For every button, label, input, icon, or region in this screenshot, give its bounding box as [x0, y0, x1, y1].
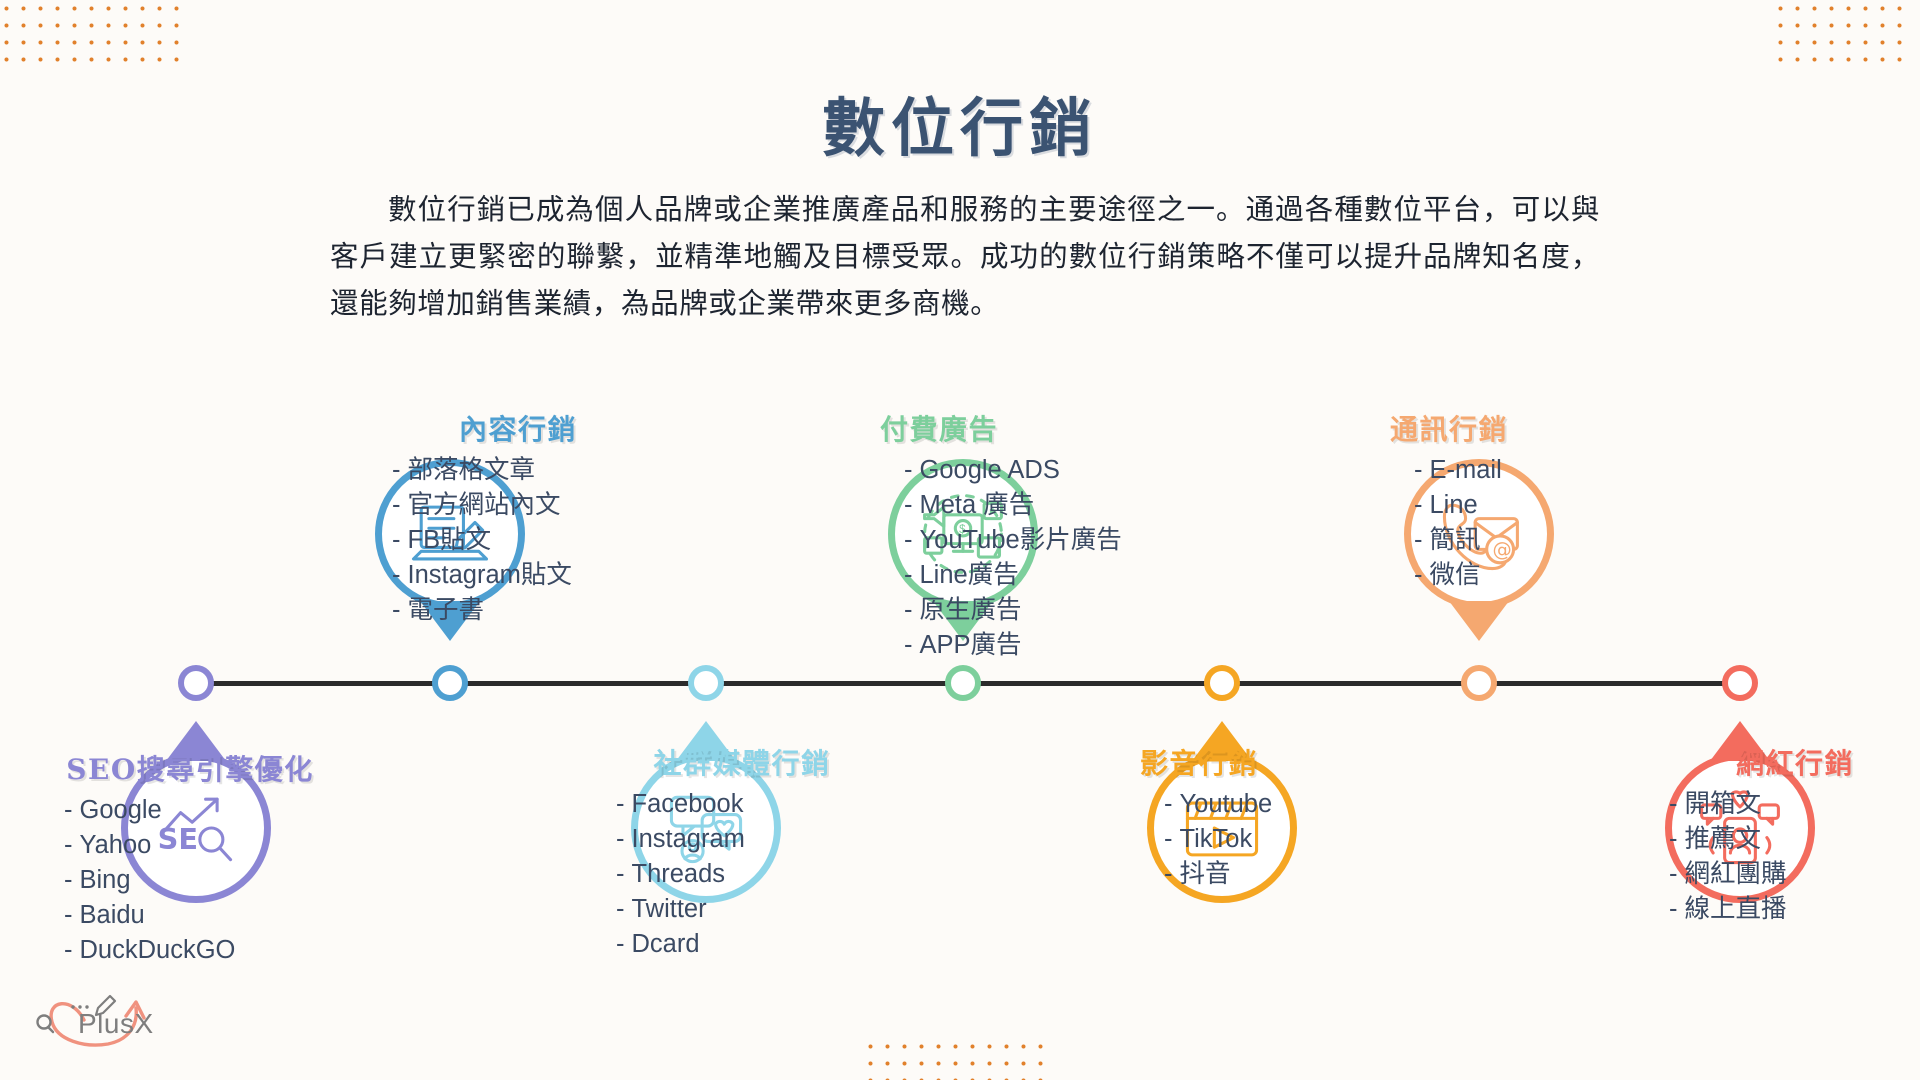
list-bullet-dash: - [64, 796, 73, 824]
section-list-seo: -Google-Yahoo-Bing-Baidu-DuckDuckGO [40, 793, 340, 968]
section-list-social: -Facebook-Instagram-Threads-Twitter-Dcar… [592, 787, 892, 962]
list-item: -原生廣告 [880, 593, 1180, 628]
section-block-social: 社群媒體行銷-Facebook-Instagram-Threads-Twitte… [592, 742, 892, 962]
dot-pattern-top-right [1772, 0, 1912, 72]
plusx-logo-text: PlusX [78, 1008, 154, 1040]
list-bullet-dash: - [392, 456, 401, 484]
list-item: -微信 [1390, 558, 1690, 593]
list-bullet-dash: - [904, 491, 913, 519]
list-item: -YouTube影片廣告 [880, 523, 1180, 558]
list-item-label: E-mail [1430, 456, 1502, 484]
timeline-node-seo[interactable] [178, 665, 214, 701]
list-bullet-dash: - [392, 561, 401, 589]
list-bullet-dash: - [904, 596, 913, 624]
section-heading-messaging: 通訊行銷 [1390, 408, 1690, 448]
list-bullet-dash: - [392, 596, 401, 624]
list-item: -DuckDuckGO [40, 933, 340, 968]
list-item: -Line [1390, 488, 1690, 523]
list-item-label: DuckDuckGO [80, 936, 236, 964]
timeline-node-paidads[interactable] [945, 665, 981, 701]
list-item: -APP廣告 [880, 628, 1180, 663]
list-item-label: FB貼文 [408, 526, 492, 554]
list-item: -線上直播 [1645, 892, 1920, 927]
list-bullet-dash: - [1669, 790, 1678, 818]
section-heading-video: 影音行銷 [1140, 742, 1440, 782]
list-item-label: 抖音 [1180, 860, 1231, 888]
infographic-canvas: 數位行銷 數位行銷已成為個人品牌或企業推廣產品和服務的主要途徑之一。通過各種數位… [0, 0, 1920, 1080]
section-block-paidads: 付費廣告-Google ADS-Meta 廣告-YouTube影片廣告-Line… [880, 408, 1180, 663]
list-item-label: TikTok [1180, 825, 1253, 853]
list-bullet-dash: - [616, 930, 625, 958]
list-item: -TikTok [1140, 822, 1440, 857]
list-item: -Youtube [1140, 787, 1440, 822]
plusx-logo: PlusX [22, 978, 172, 1058]
list-item: -Instagram [592, 822, 892, 857]
list-bullet-dash: - [64, 936, 73, 964]
list-item: -Dcard [592, 927, 892, 962]
list-item: -E-mail [1390, 453, 1690, 488]
list-bullet-dash: - [1414, 491, 1423, 519]
list-item: -開箱文 [1645, 787, 1920, 822]
list-item: -官方網站內文 [368, 488, 668, 523]
timeline-node-messaging[interactable] [1461, 665, 1497, 701]
list-item: -Google ADS [880, 453, 1180, 488]
list-item: -推薦文 [1645, 822, 1920, 857]
list-item: -網紅團購 [1645, 857, 1920, 892]
list-bullet-dash: - [616, 825, 625, 853]
section-list-paidads: -Google ADS-Meta 廣告-YouTube影片廣告-Line廣告-原… [880, 453, 1180, 663]
list-item-label: Google [80, 796, 162, 824]
list-item-label: Youtube [1180, 790, 1273, 818]
list-item-label: Dcard [632, 930, 700, 958]
dot-pattern-top-left [0, 0, 188, 72]
list-item: -Baidu [40, 898, 340, 933]
list-item-label: Line廣告 [920, 561, 1019, 589]
list-item-label: Yahoo [80, 831, 152, 859]
list-bullet-dash: - [1164, 825, 1173, 853]
list-item-label: YouTube影片廣告 [920, 526, 1122, 554]
list-item-label: Bing [80, 866, 131, 894]
list-item-label: 部落格文章 [408, 456, 536, 484]
list-item: -Facebook [592, 787, 892, 822]
list-item-label: 原生廣告 [920, 596, 1022, 624]
list-item-label: Instagram [632, 825, 745, 853]
section-heading-content: 內容行銷 [368, 408, 668, 448]
section-block-video: 影音行銷-Youtube-TikTok-抖音 [1140, 742, 1440, 892]
list-bullet-dash: - [1669, 860, 1678, 888]
list-item-label: 電子書 [408, 596, 485, 624]
list-item: -Twitter [592, 892, 892, 927]
section-list-video: -Youtube-TikTok-抖音 [1140, 787, 1440, 892]
list-item: -部落格文章 [368, 453, 668, 488]
timeline-node-influencer[interactable] [1722, 665, 1758, 701]
list-item-label: Instagram貼文 [408, 561, 572, 589]
list-item: -FB貼文 [368, 523, 668, 558]
section-heading-paidads: 付費廣告 [880, 408, 1180, 448]
list-item-label: 微信 [1430, 561, 1481, 589]
section-heading-social: 社群媒體行銷 [592, 742, 892, 782]
list-item-label: APP廣告 [920, 631, 1022, 659]
list-item-label: Baidu [80, 901, 145, 929]
section-block-content: 內容行銷-部落格文章-官方網站內文-FB貼文-Instagram貼文-電子書 [368, 408, 668, 628]
list-item: -Bing [40, 863, 340, 898]
list-bullet-dash: - [64, 831, 73, 859]
list-bullet-dash: - [616, 790, 625, 818]
list-item-label: Facebook [632, 790, 744, 818]
list-bullet-dash: - [64, 901, 73, 929]
list-bullet-dash: - [1414, 561, 1423, 589]
list-bullet-dash: - [1414, 456, 1423, 484]
list-item-label: Meta 廣告 [920, 491, 1035, 519]
list-item-label: 推薦文 [1685, 825, 1762, 853]
list-item: -Threads [592, 857, 892, 892]
section-list-influencer: -開箱文-推薦文-網紅團購-線上直播 [1645, 787, 1920, 927]
list-item-label: 簡訊 [1430, 526, 1481, 554]
list-bullet-dash: - [616, 895, 625, 923]
section-block-seo: SEO搜尋引擎優化-Google-Yahoo-Bing-Baidu-DuckDu… [40, 748, 340, 968]
list-bullet-dash: - [904, 631, 913, 659]
section-block-messaging: 通訊行銷-E-mail-Line-簡訊-微信 [1390, 408, 1690, 593]
list-item-label: Threads [632, 860, 726, 888]
list-item-label: Google ADS [920, 456, 1060, 484]
timeline-node-content[interactable] [432, 665, 468, 701]
list-bullet-dash: - [616, 860, 625, 888]
list-bullet-dash: - [64, 866, 73, 894]
list-bullet-dash: - [1414, 526, 1423, 554]
list-item: -Instagram貼文 [368, 558, 668, 593]
timeline-node-video[interactable] [1204, 665, 1240, 701]
list-item: -簡訊 [1390, 523, 1690, 558]
list-item: -電子書 [368, 593, 668, 628]
list-bullet-dash: - [1669, 825, 1678, 853]
list-item: -Google [40, 793, 340, 828]
list-bullet-dash: - [904, 561, 913, 589]
timeline-node-social[interactable] [688, 665, 724, 701]
list-item-label: 線上直播 [1685, 895, 1787, 923]
list-bullet-dash: - [392, 491, 401, 519]
list-item: -抖音 [1140, 857, 1440, 892]
intro-paragraph: 數位行銷已成為個人品牌或企業推廣產品和服務的主要途徑之一。通過各種數位平台，可以… [330, 186, 1600, 327]
list-item-label: 網紅團購 [1685, 860, 1787, 888]
list-item-label: 開箱文 [1685, 790, 1762, 818]
list-bullet-dash: - [904, 526, 913, 554]
dot-pattern-bottom-center [862, 1038, 1052, 1080]
list-bullet-dash: - [1164, 790, 1173, 818]
section-block-influencer: 網紅行銷-開箱文-推薦文-網紅團購-線上直播 [1645, 742, 1920, 927]
list-item: -Line廣告 [880, 558, 1180, 593]
list-bullet-dash: - [1669, 895, 1678, 923]
section-heading-influencer: 網紅行銷 [1645, 742, 1920, 782]
list-bullet-dash: - [904, 456, 913, 484]
section-list-messaging: -E-mail-Line-簡訊-微信 [1390, 453, 1690, 593]
list-item-label: Line [1430, 491, 1478, 519]
list-item-label: 官方網站內文 [408, 491, 561, 519]
list-bullet-dash: - [1164, 860, 1173, 888]
page-title: 數位行銷 [0, 78, 1920, 169]
list-item-label: Twitter [632, 895, 707, 923]
list-bullet-dash: - [392, 526, 401, 554]
section-list-content: -部落格文章-官方網站內文-FB貼文-Instagram貼文-電子書 [368, 453, 668, 628]
list-item: -Yahoo [40, 828, 340, 863]
list-item: -Meta 廣告 [880, 488, 1180, 523]
pin-tail-messaging [1449, 601, 1509, 641]
section-heading-seo: SEO搜尋引擎優化 [40, 748, 340, 788]
